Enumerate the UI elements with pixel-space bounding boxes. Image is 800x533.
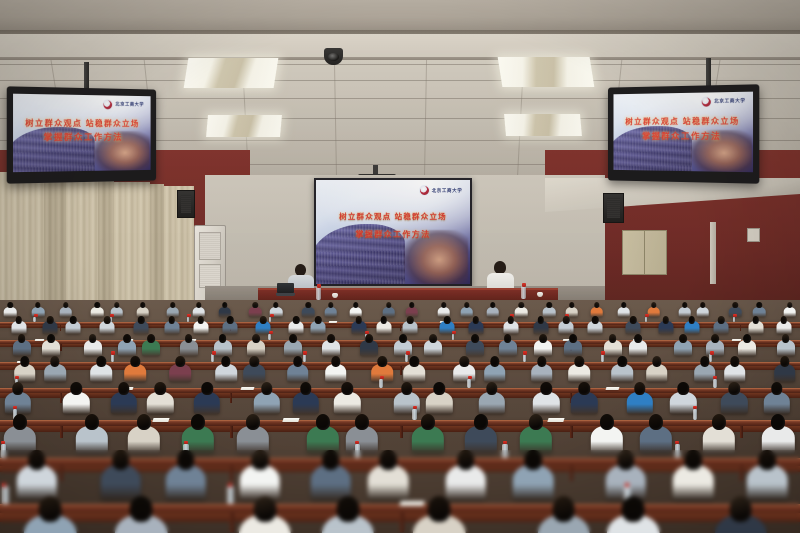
water-bottle [33, 317, 35, 322]
handout-paper [283, 418, 300, 422]
audience-member [424, 334, 442, 359]
audience-member [90, 356, 112, 386]
audience-member-head [410, 356, 419, 367]
audience-member-head [524, 450, 542, 470]
audience-member [738, 334, 756, 359]
audience-member-head [28, 450, 46, 470]
water-bottle [733, 317, 735, 322]
ceiling-light-panel [498, 57, 595, 87]
audience-member-head [85, 414, 99, 430]
desk-divider [60, 466, 63, 481]
audience-member-head [198, 316, 205, 324]
water-bottle [452, 334, 455, 341]
presentation-slide: 北京工商大学 树立群众观点 站稳群众立场 掌握群众工作方法 [316, 180, 470, 284]
audience-member-head [711, 334, 719, 343]
desk-divider [400, 426, 403, 438]
water-bottle [355, 444, 360, 458]
audience-member-head [316, 414, 330, 430]
audience-member-head [712, 414, 726, 430]
tv-right-headline-1: 树立群众观点 站稳群众立场 [613, 116, 753, 128]
water-bottle [601, 354, 604, 362]
audience-member-head [15, 316, 22, 324]
audience-member-head [130, 496, 153, 522]
audience-member [13, 334, 31, 359]
audience-member [322, 334, 340, 359]
audience-member [706, 334, 724, 359]
window-curtain [150, 184, 164, 312]
audience-member [164, 316, 179, 337]
audience-member [247, 334, 265, 359]
audience-member-head [50, 356, 59, 367]
desk-divider [400, 366, 402, 374]
audience-member-head [20, 356, 29, 367]
audience-member-head [70, 316, 77, 324]
audience-member [604, 334, 622, 359]
audience-member-head [252, 334, 260, 343]
audience-member-head [685, 450, 703, 470]
audience-seating-area [0, 300, 800, 533]
water-bottle [211, 354, 214, 362]
audience-member-head [759, 450, 777, 470]
audience-member-head [254, 496, 277, 522]
audience-member-head [249, 356, 258, 367]
audience-member-head [474, 414, 488, 430]
audience-member-head [563, 316, 570, 324]
audience-member-torso [486, 307, 499, 318]
audience-member-head [227, 316, 234, 324]
audience-member-head [365, 334, 373, 343]
audience-member-head [168, 316, 175, 324]
door-seam [644, 230, 645, 275]
audience-member [486, 302, 499, 319]
audience-member [499, 334, 517, 359]
desk-divider [740, 325, 741, 331]
audience-member [376, 316, 391, 337]
handout-paper [240, 387, 254, 390]
handout-paper [329, 321, 337, 323]
audience-member-head [13, 414, 27, 430]
audience-member [674, 334, 692, 359]
audience-member-head [89, 334, 97, 343]
audience-member [537, 496, 590, 533]
desk-divider [570, 426, 573, 438]
audience-member-head [652, 356, 661, 367]
university-seal-icon [103, 99, 114, 110]
audience-member-head [260, 316, 267, 324]
ceiling-light-panel [184, 58, 279, 88]
water-bottle [521, 286, 526, 299]
university-seal-icon [419, 185, 430, 196]
center-projection-screen: 北京工商大学 树立群众观点 站稳群众立场 掌握群众工作方法 [314, 178, 472, 286]
audience-member-head [322, 450, 340, 470]
audience-member-head [504, 334, 512, 343]
audience-member-head [592, 316, 599, 324]
audience-member-head [782, 334, 790, 343]
audience-member-torso [325, 307, 338, 318]
university-name: 北京工商大学 [432, 188, 463, 194]
audience-member-head [123, 334, 131, 343]
audience-member-head [429, 334, 437, 343]
audience-member-head [96, 356, 105, 367]
audience-member-head [191, 414, 205, 430]
window-curtain [66, 178, 98, 320]
audience-member [254, 382, 280, 418]
audience-member-head [649, 414, 663, 430]
audience-member-head [663, 316, 670, 324]
audience-member-head [331, 356, 340, 367]
tv-right-headline-2: 掌握群众工作方法 [613, 130, 753, 142]
audience-member [658, 316, 673, 337]
lecture-hall-photo: 北京工商大学 树立群众观点 站稳群众立场 掌握群众工作方法 北京工商大学 树立群… [0, 0, 800, 533]
audience-member-head [460, 356, 469, 367]
audience-member-head [575, 356, 584, 367]
audience-member-head [780, 356, 789, 367]
desk-divider [230, 466, 233, 481]
audience-member [334, 382, 360, 418]
audience-member-head [539, 334, 547, 343]
slide-headline-2: 掌握群众工作方法 [316, 229, 470, 240]
audience-member-head [221, 356, 230, 367]
water-bottle [316, 287, 321, 300]
audience-member-head [47, 316, 54, 324]
audience-member-head [457, 450, 475, 470]
audience-member [533, 382, 559, 418]
water-bottle [187, 317, 189, 322]
water-bottle [467, 379, 471, 388]
audience-member-head [617, 450, 635, 470]
audience-member [454, 356, 476, 386]
audience-member [24, 496, 77, 533]
tv-right-slide: 北京工商大学 树立群众观点 站稳群众立场 掌握群众工作方法 [613, 92, 753, 173]
audience-member [322, 496, 375, 533]
audience-member-head [399, 334, 407, 343]
tv-left-headline-1: 树立群众观点 站稳群众立场 [13, 117, 151, 129]
audience-member [110, 382, 136, 418]
audience-member [214, 334, 232, 359]
audience-member [478, 382, 504, 418]
water-bottle [502, 444, 507, 458]
audience-member [394, 334, 412, 359]
audience-member-head [355, 316, 362, 324]
water-bottle [693, 409, 697, 420]
window-curtain [114, 182, 150, 314]
water-bottle [1, 444, 6, 458]
audience-member-head [185, 334, 193, 343]
water-bottle [379, 379, 383, 388]
audience-member-head [421, 414, 435, 430]
water-bottle [227, 486, 234, 504]
audience-member-head [679, 334, 687, 343]
audience-member-head [177, 450, 195, 470]
audience-member-head [104, 316, 111, 324]
audience-member-head [289, 334, 297, 343]
audience-member [84, 334, 102, 359]
desk-divider [60, 325, 61, 331]
audience-member-head [293, 356, 302, 367]
audience-member [714, 496, 767, 533]
audience-member [564, 334, 582, 359]
audience-member [147, 382, 173, 418]
audience-member-head [355, 414, 369, 430]
audience-member-head [377, 356, 386, 367]
desk-divider [400, 513, 404, 532]
audience-member [66, 316, 81, 337]
audience-member-head [176, 356, 185, 367]
audience-member [426, 382, 452, 418]
audience-member [413, 496, 466, 533]
audience-member [165, 450, 206, 505]
handout-paper [606, 387, 620, 390]
audience-member [180, 334, 198, 359]
audience-member-head [48, 334, 56, 343]
audience-member [466, 334, 484, 359]
water-bottle [713, 379, 717, 388]
audience-member-head [538, 316, 545, 324]
audience-member-head [444, 316, 451, 324]
audience-member [115, 496, 168, 533]
upper-ceiling-slab [0, 0, 800, 34]
audience-member-head [634, 334, 642, 343]
audience-member-head [600, 414, 614, 430]
audience-member-head [337, 496, 360, 522]
audience-member-head [379, 450, 397, 470]
slide-university-logo: 北京工商大学 [419, 185, 463, 196]
audience-member [239, 496, 292, 533]
audience-member-head [537, 356, 546, 367]
audience-member-head [771, 414, 785, 430]
audience-member-head [381, 316, 388, 324]
wall-control-plate[interactable] [747, 228, 760, 242]
tv-left-slide: 北京工商大学 树立群众观点 站稳群众立场 掌握群众工作方法 [13, 94, 151, 172]
audience-member [607, 496, 660, 533]
audience-member-head [730, 356, 739, 367]
university-name: 北京工商大学 [714, 98, 745, 105]
audience-member [100, 316, 115, 337]
audience-member-head [700, 356, 709, 367]
desk-divider [230, 513, 234, 532]
audience-member [284, 334, 302, 359]
audience-member-head [246, 414, 260, 430]
audience-member [5, 382, 31, 418]
wall-tv-right: 北京工商大学 树立群众观点 站稳群众立场 掌握群众工作方法 [608, 84, 759, 183]
desk-divider [60, 426, 63, 438]
audience-member [411, 414, 443, 458]
audience-member-head [781, 316, 788, 324]
audience-member-head [490, 356, 499, 367]
audience-member [721, 382, 747, 418]
audience-member-head [428, 496, 451, 522]
water-bottle [645, 317, 647, 322]
audience-member-head [293, 316, 300, 324]
desk-divider [60, 393, 62, 403]
desk-divider [740, 426, 743, 438]
audience-member-head [138, 316, 145, 324]
presenter-laptop[interactable] [276, 283, 295, 296]
wall-loudspeaker [603, 193, 624, 223]
audience-member [534, 334, 552, 359]
desk-divider [230, 393, 232, 403]
audience-member-head [327, 334, 335, 343]
audience-member-head [407, 316, 414, 324]
audience-member-head [471, 334, 479, 343]
desk-divider [400, 325, 401, 331]
audience-member-head [688, 316, 695, 324]
audience-member-head [622, 496, 645, 522]
audience-member-head [251, 450, 269, 470]
audience-member-head [752, 316, 759, 324]
audience-member-head [718, 316, 725, 324]
audience-member-head [131, 356, 140, 367]
audience-member-head [18, 334, 26, 343]
slide-headline-1: 树立群众观点 站稳群众立场 [316, 211, 470, 222]
audience-member [292, 382, 318, 418]
audience-member [588, 316, 603, 337]
audience-member [360, 334, 378, 359]
audience-member-head [609, 334, 617, 343]
ceiling-light-panel [206, 115, 282, 137]
desk-divider [740, 466, 743, 481]
audience-member [571, 382, 597, 418]
audience-member-head [473, 316, 480, 324]
wall-loudspeaker [177, 190, 195, 218]
audience-member [673, 450, 714, 505]
audience-member [627, 382, 653, 418]
audience-member-head [137, 414, 151, 430]
audience-member [63, 382, 89, 418]
desk-divider [230, 426, 233, 438]
audience-member-head [618, 356, 627, 367]
wall-tv-left: 北京工商大学 树立群众观点 站稳群众立场 掌握群众工作方法 [7, 86, 156, 183]
doorway-gap [710, 222, 716, 284]
audience-member [763, 382, 789, 418]
window-curtain [98, 180, 114, 318]
audience-member-head [219, 334, 227, 343]
ceiling-light-panel [504, 114, 582, 136]
audience-member-head [569, 334, 577, 343]
audience-member-head [529, 414, 543, 430]
audience-member-head [743, 334, 751, 343]
audience-member-head [39, 496, 62, 522]
audience-member [142, 334, 160, 359]
audience-member [42, 334, 60, 359]
audience-member-head [729, 496, 752, 522]
water-bottle [523, 354, 526, 362]
water-bottle [2, 486, 9, 504]
desk-divider [570, 466, 573, 481]
dome-security-camera-icon [324, 48, 343, 65]
audience-member [118, 334, 136, 359]
university-seal-icon [701, 96, 712, 107]
audience-member-head [630, 316, 637, 324]
university-name: 北京工商大学 [115, 102, 144, 108]
tv-left-headline-2: 掌握群众工作方法 [13, 131, 151, 143]
audience-member [194, 382, 220, 418]
audience-member-head [507, 316, 514, 324]
audience-member-head [112, 450, 130, 470]
audience-member [629, 334, 647, 359]
audience-member-head [315, 316, 322, 324]
audience-member-head [147, 334, 155, 343]
audience-member [777, 334, 795, 359]
audience-member [325, 302, 338, 319]
water-bottle [268, 334, 271, 341]
audience-member-head [552, 496, 575, 522]
